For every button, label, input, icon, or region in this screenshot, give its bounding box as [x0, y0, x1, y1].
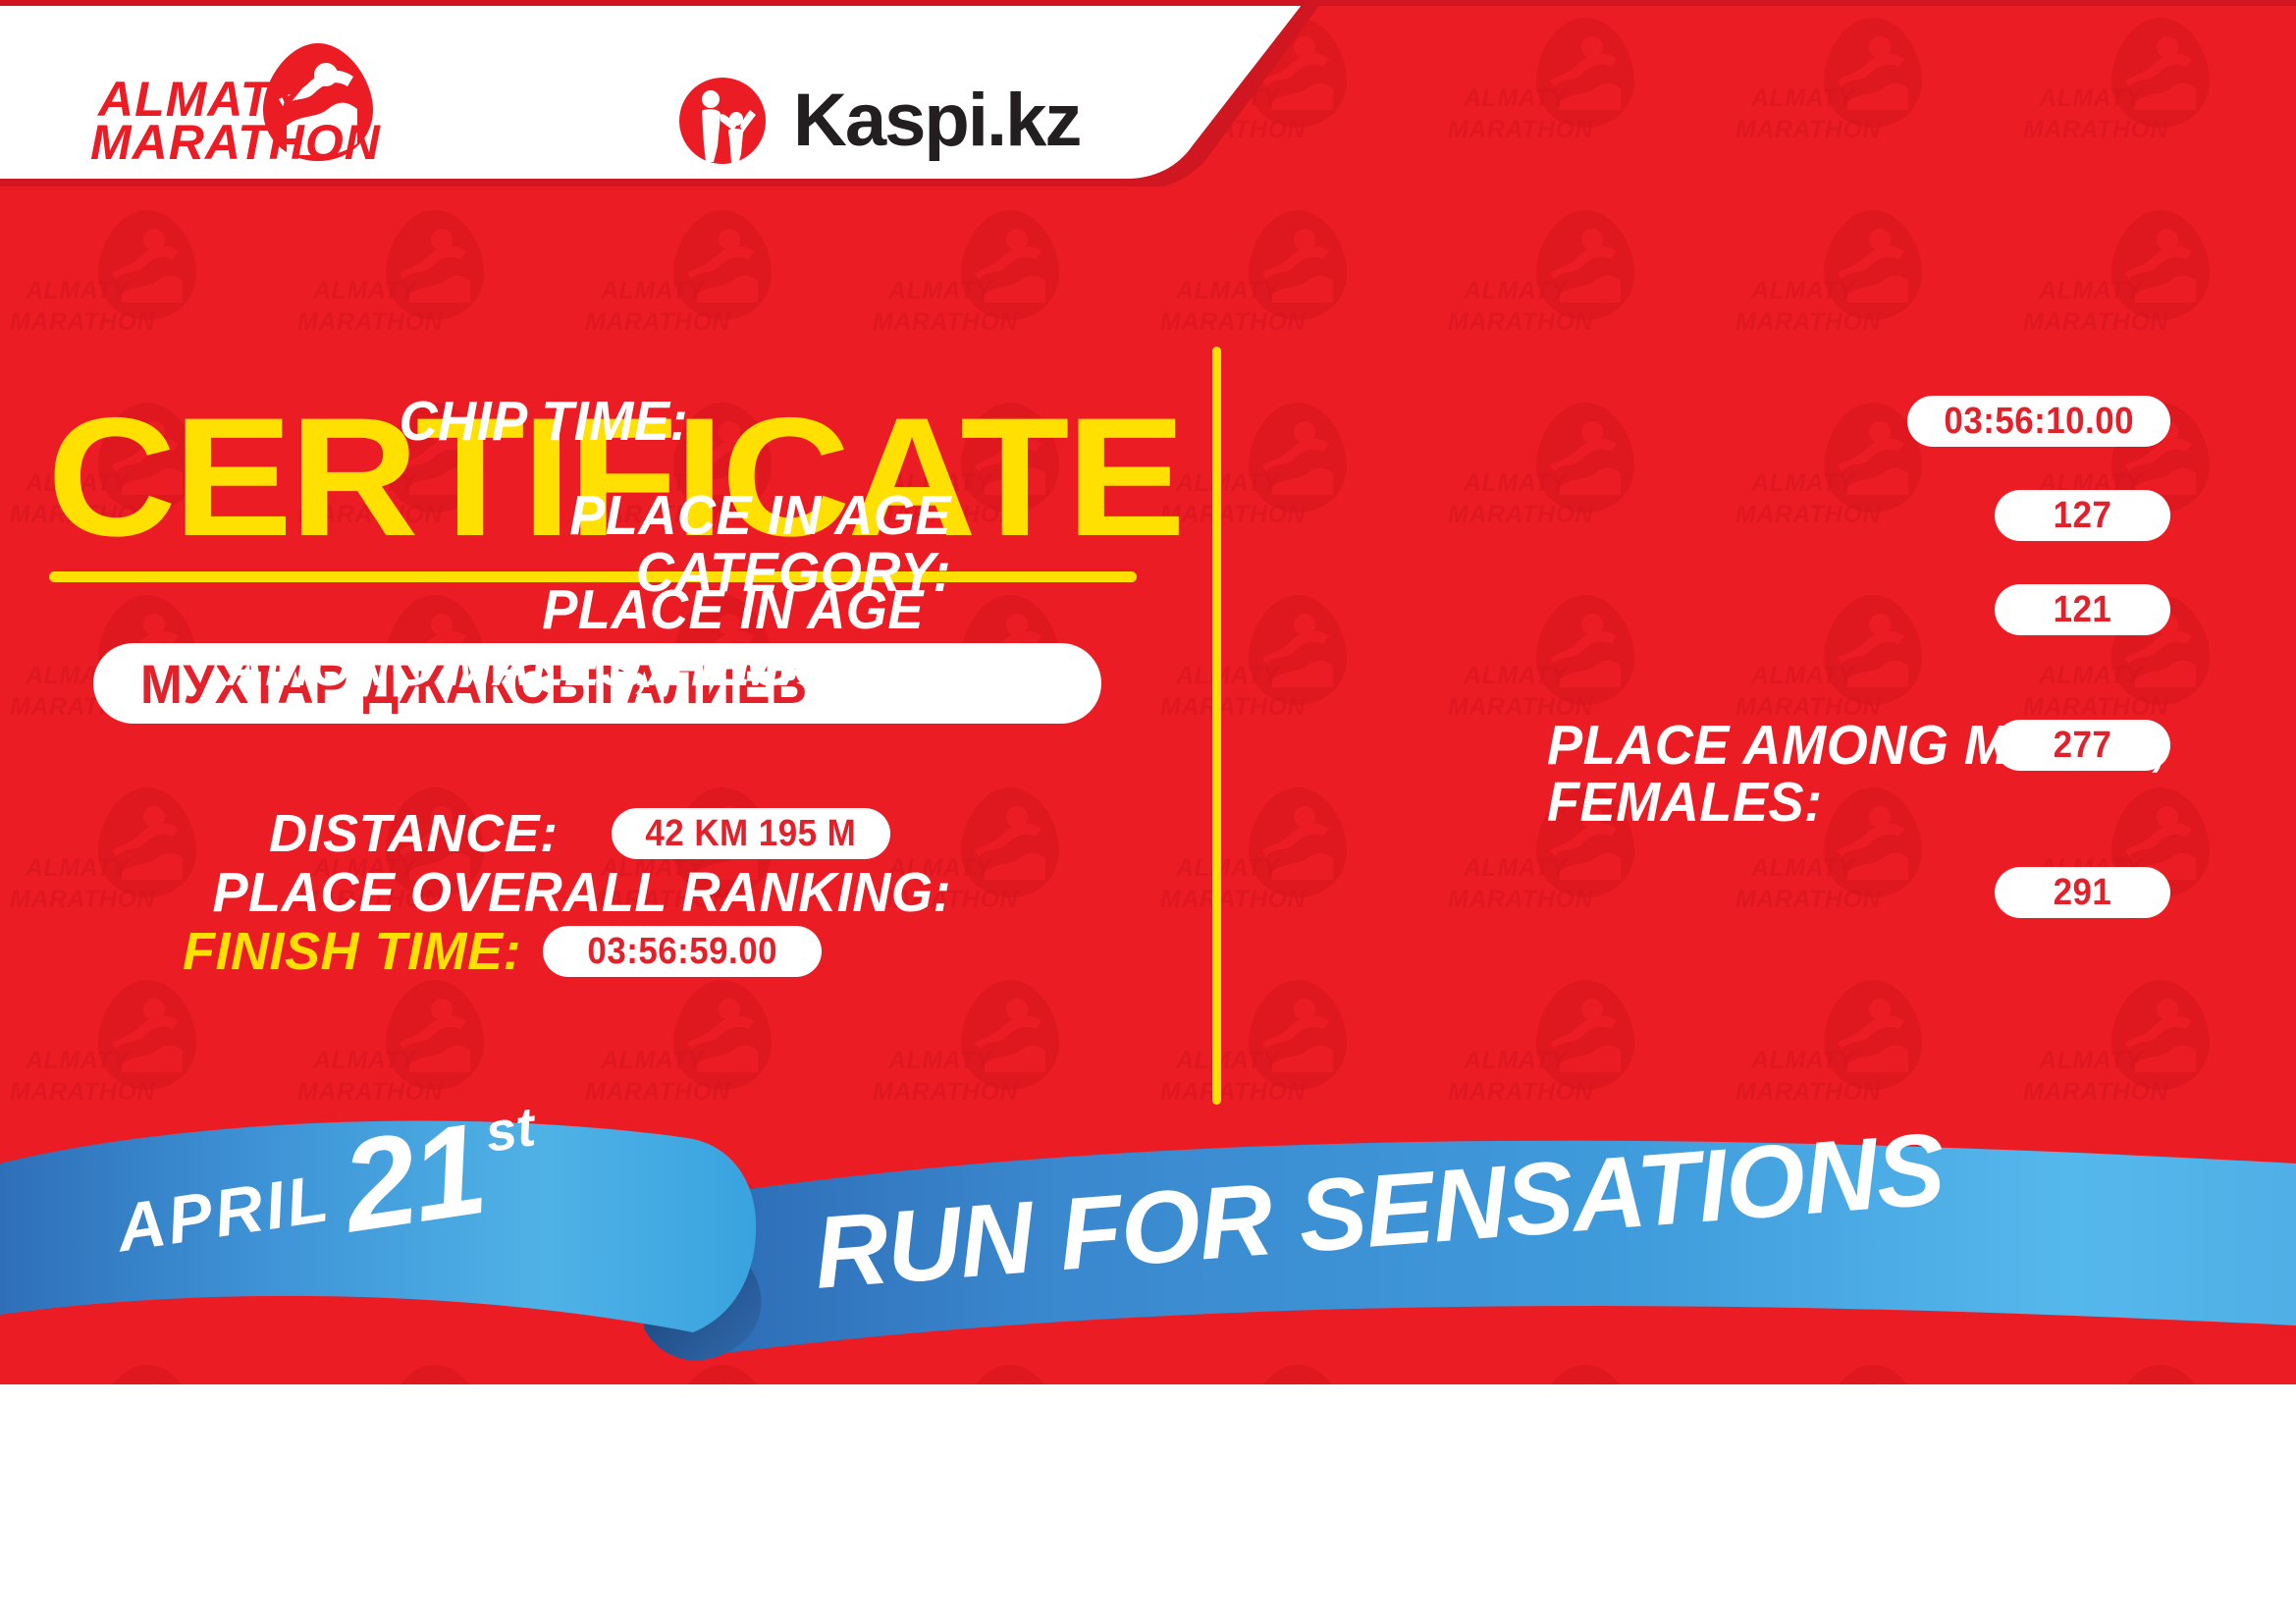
place-age-among-label-line2: AMONG MALES, FEMALES — [215, 638, 924, 695]
place-age-among-value-pill: 121 — [1995, 584, 2170, 635]
distance-value-pill: 42 KM 195 M — [612, 808, 890, 859]
chip-time-value: 03:56:10.00 — [1944, 401, 2134, 443]
place-age-value-pill: 127 — [1995, 490, 2170, 541]
kaspi-wordmark: Kaspi.kz — [793, 83, 1080, 158]
finish-time-row: FINISH TIME: 03:56:59.00 — [183, 921, 822, 982]
chip-time-value-pill: 03:56:10.00 — [1907, 396, 2170, 447]
overall-rank-value-pill: 291 — [1995, 867, 2170, 918]
place-among-value: 277 — [2054, 725, 2112, 767]
vertical-divider — [1212, 347, 1221, 1105]
place-age-among-value: 121 — [2054, 589, 2112, 631]
almaty-wordmark-line2: MARATHON — [90, 115, 381, 164]
distance-value: 42 KM 195 M — [645, 813, 856, 855]
distance-label: DISTANCE: — [269, 803, 559, 864]
kaspi-logo: Kaspi.kz — [677, 69, 1070, 172]
chip-time-label: CHIP TIME: — [129, 393, 688, 450]
finish-time-value-pill: 03:56:59.00 — [543, 926, 822, 977]
top-red-rule — [0, 0, 2296, 6]
place-among-label-line2: FEMALES: — [1547, 774, 2256, 831]
place-among-value-pill: 277 — [1995, 720, 2170, 771]
certificate-canvas: ALMATY MARATHON ALMATY MARATHON — [0, 0, 2296, 1624]
kaspi-people-circle-icon — [677, 76, 768, 166]
finish-time-value: 03:56:59.00 — [587, 931, 777, 973]
overall-rank-label: PLACE OVERALL RANKING: — [205, 864, 951, 921]
event-day: 21 — [336, 1109, 490, 1247]
results-panel: CHIP TIME: 03:56:10.00 PLACE IN AGE CATE… — [1266, 0, 2296, 1110]
sponsor-strip — [0, 1384, 2296, 1624]
place-age-value: 127 — [2054, 495, 2112, 537]
distance-row: DISTANCE: 42 KM 195 M — [269, 803, 890, 864]
overall-rank-value: 291 — [2054, 872, 2112, 914]
finish-time-label: FINISH TIME: — [183, 921, 521, 982]
almaty-marathon-logo: ALMATY MARATHON — [90, 41, 404, 164]
